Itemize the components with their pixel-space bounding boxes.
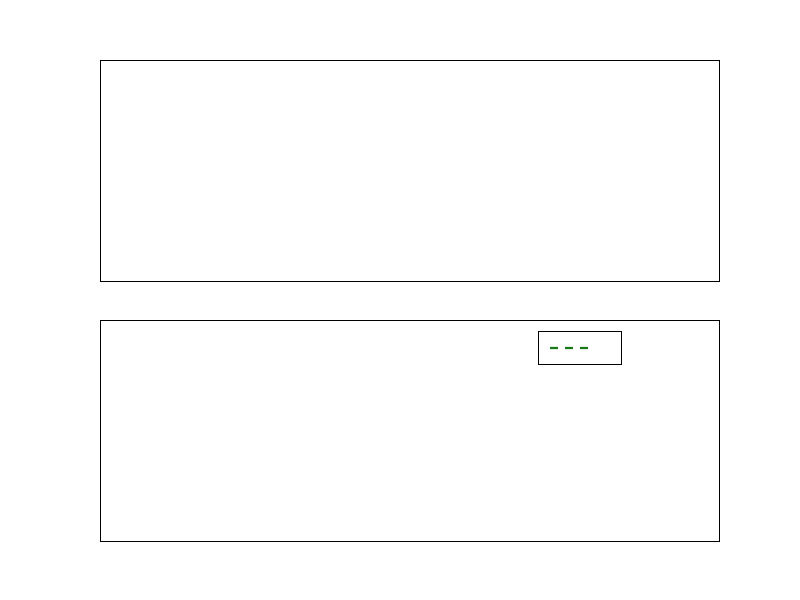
matplotlib-figure bbox=[0, 0, 800, 600]
cumulative-histogram-axes bbox=[100, 320, 720, 542]
differential-histogram-axes bbox=[100, 60, 720, 282]
legend[interactable] bbox=[538, 331, 622, 365]
cumulative-histogram-plot bbox=[101, 321, 721, 543]
differential-histogram-plot bbox=[101, 61, 721, 283]
mag-limit-line-icon bbox=[548, 341, 596, 355]
